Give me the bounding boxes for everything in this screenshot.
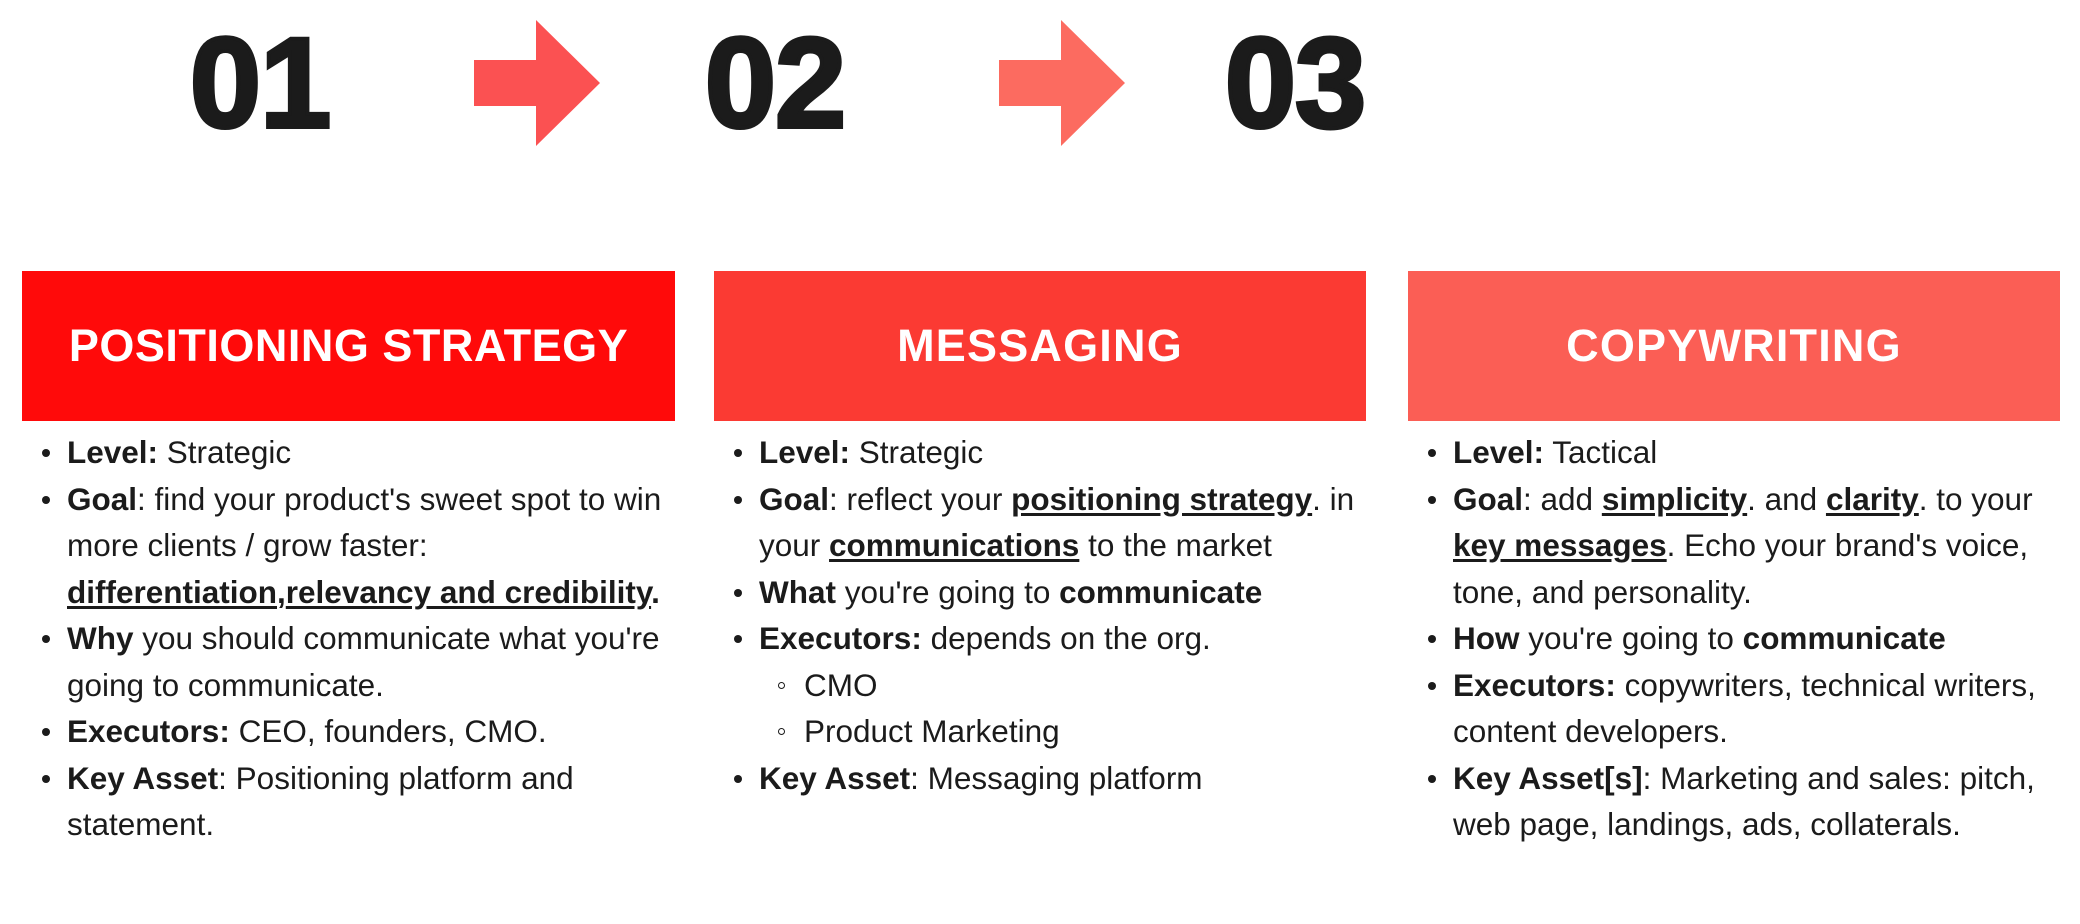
bullet-text: : add [1523,481,1602,517]
bullet-label: Why [67,620,134,656]
step-number-row: 01 02 03 [0,0,2080,185]
list-item: Executors: copywriters, technical writer… [1408,662,2068,755]
bullet-emphasis: relevancy and credibility [286,574,651,610]
header-bar-label: MESSAGING [897,320,1183,372]
bullet-emphasis: clarity [1826,481,1919,517]
bullet-text: Strategic [158,434,291,470]
list-item: Key Asset: Positioning platform and stat… [22,755,682,848]
bullet-emphasis: simplicity [1602,481,1747,517]
bullet-text: . and [1747,481,1826,517]
sub-list-item: CMO [759,662,1374,709]
bullet-emphasis: communicate [1059,574,1262,610]
list-item: Why you should communicate what you're g… [22,615,682,708]
column-messaging: Level: Strategic Goal: reflect your posi… [714,429,1374,801]
bullet-emphasis: key messages [1453,527,1667,563]
bullet-list: Level: Strategic Goal: reflect your posi… [714,429,1374,801]
bullet-label: Level: [67,434,158,470]
column-copywriting: Level: Tactical Goal: add simplicity. an… [1408,429,2068,848]
step-number-02: 02 [565,14,985,154]
list-item: Goal: find your product's sweet spot to … [22,476,682,616]
bullet-text: CEO, founders, CMO. [230,713,547,749]
bullet-label: Executors: [1453,667,1616,703]
header-bar-messaging: MESSAGING [714,271,1366,421]
bullet-emphasis: differentiation [67,574,277,610]
bullet-label: Goal [759,481,829,517]
list-item: What you're going to communicate [714,569,1374,616]
bullet-label: Key Asset [67,760,218,796]
bullet-label: Executors: [67,713,230,749]
list-item: Level: Strategic [22,429,682,476]
list-item: Key Asset[s]: Marketing and sales: pitch… [1408,755,2068,848]
bullet-separator: , [277,574,286,610]
bullet-label: What [759,574,836,610]
list-item: How you're going to communicate [1408,615,2068,662]
column-positioning-strategy: Level: Strategic Goal: find your product… [22,429,682,848]
list-item: Goal: add simplicity. and clarity. to yo… [1408,476,2068,616]
bullet-emphasis: communications [829,527,1079,563]
bullet-text: you should communicate what you're going… [67,620,660,703]
header-bar-label: POSITIONING STRATEGY [69,320,628,372]
bullet-text: to the market [1079,527,1272,563]
bullet-text: Strategic [850,434,983,470]
list-item: Executors: CEO, founders, CMO. [22,708,682,755]
bullet-text: you're going to [836,574,1059,610]
step-number-01: 01 [50,14,470,154]
list-item: Executors: depends on the org. CMO Produ… [714,615,1374,755]
bullet-label: Key Asset[s] [1453,760,1643,796]
bullet-list: Level: Tactical Goal: add simplicity. an… [1408,429,2068,848]
header-bar-positioning-strategy: POSITIONING STRATEGY [22,271,675,421]
bullet-text: : Messaging platform [910,760,1202,796]
bullet-label: Level: [1453,434,1544,470]
header-bar-row: POSITIONING STRATEGY MESSAGING COPYWRITI… [0,271,2080,421]
bullet-label: Executors: [759,620,922,656]
bullet-label: Level: [759,434,850,470]
header-bar-label: COPYWRITING [1566,320,1902,372]
bullet-emphasis: positioning strategy [1011,481,1312,517]
list-item: Key Asset: Messaging platform [714,755,1374,802]
list-item: Level: Strategic [714,429,1374,476]
bullet-label: Key Asset [759,760,910,796]
list-item: Level: Tactical [1408,429,2068,476]
header-bar-copywriting: COPYWRITING [1408,271,2060,421]
bullet-text: . to your [1919,481,2033,517]
bullet-list: Level: Strategic Goal: find your product… [22,429,682,848]
bullet-text: : find your product's sweet spot to win … [67,481,661,564]
bullet-text: Tactical [1544,434,1657,470]
bullet-label: How [1453,620,1520,656]
bullet-emphasis: communicate [1743,620,1946,656]
bullet-text: you're going to [1520,620,1743,656]
bullet-label: Goal [67,481,137,517]
bullet-label: Goal [1453,481,1523,517]
bullet-text: : reflect your [829,481,1011,517]
sub-bullet-list: CMO Product Marketing [759,662,1374,755]
content-columns: Level: Strategic Goal: find your product… [0,429,2080,924]
list-item: Goal: reflect your positioning strategy.… [714,476,1374,569]
bullet-end: . [651,574,660,610]
sub-list-item: Product Marketing [759,708,1374,755]
step-number-03: 03 [1085,14,1505,154]
bullet-text: depends on the org. [922,620,1211,656]
